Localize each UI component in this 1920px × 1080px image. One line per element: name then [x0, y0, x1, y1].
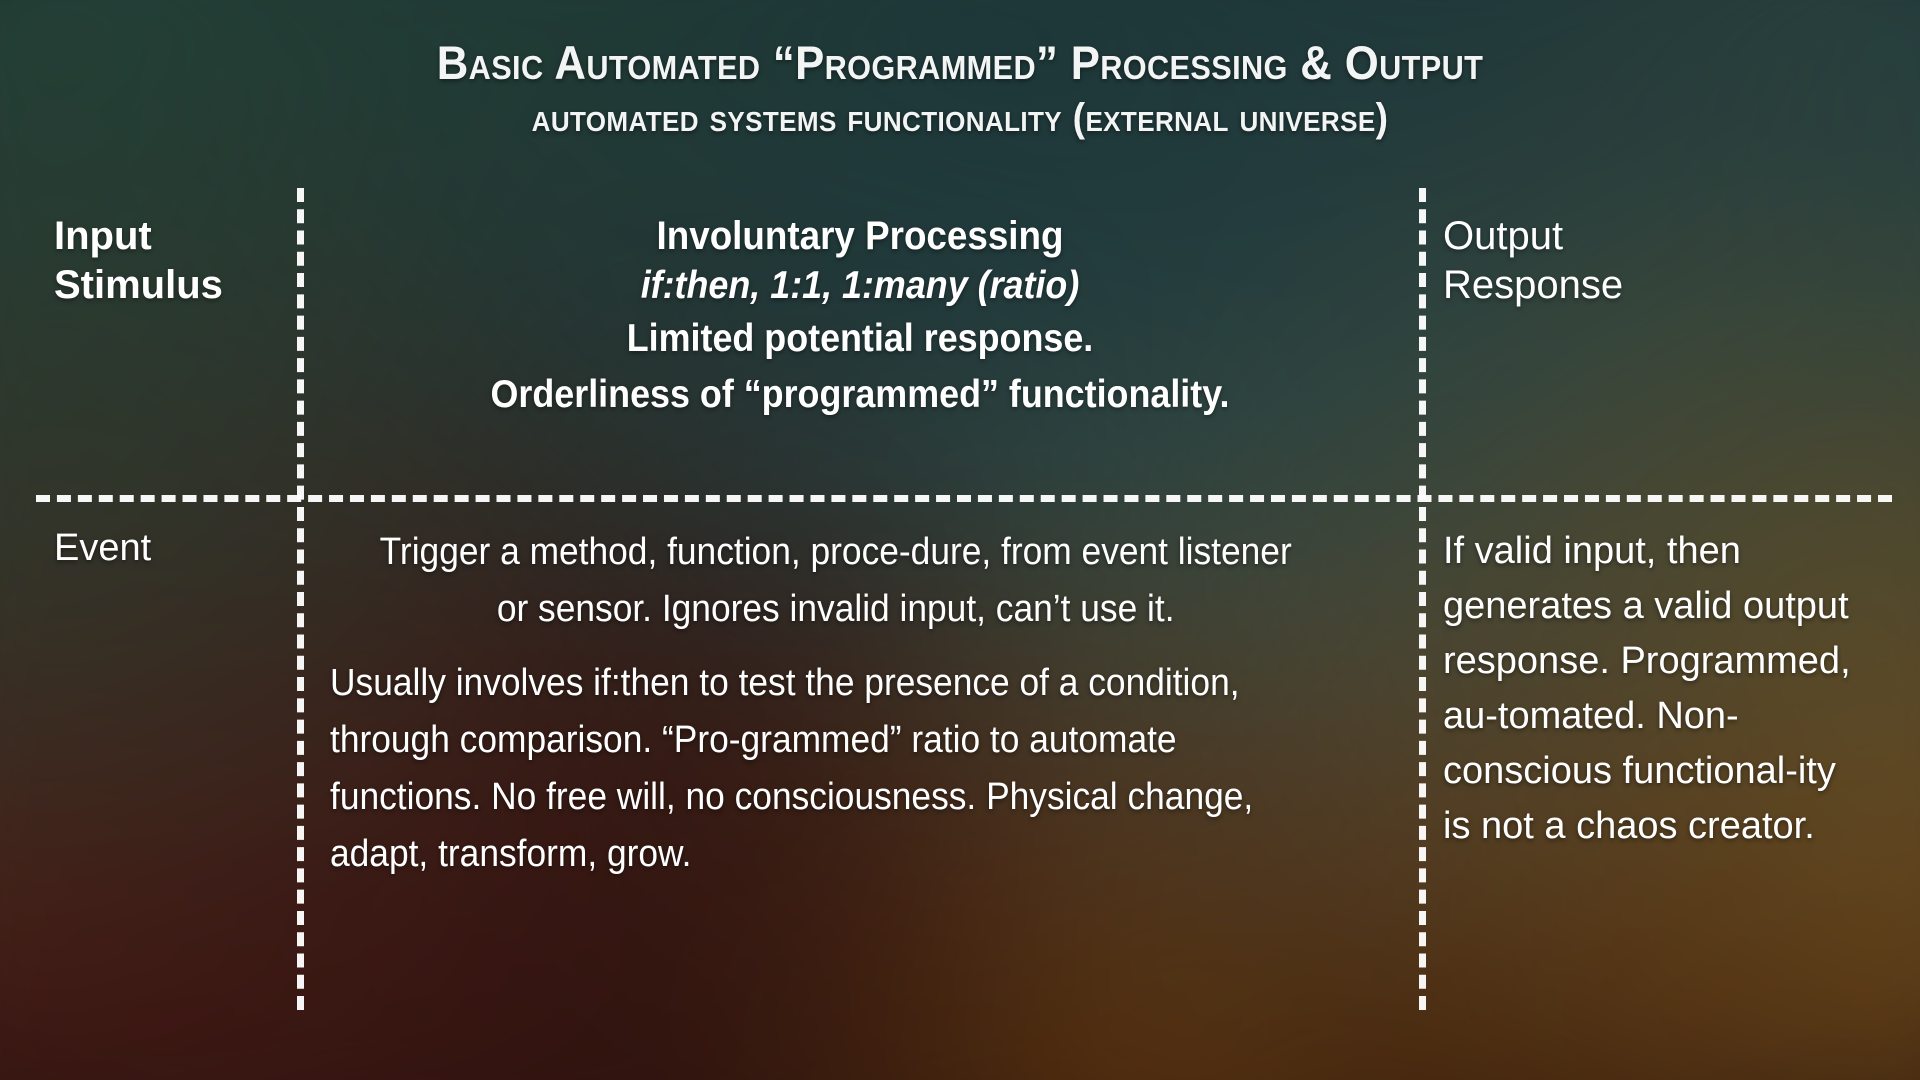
header-processing-line1: Involuntary Processing [363, 212, 1357, 261]
slide-canvas: Basic Automated “Programmed” Processing … [0, 0, 1920, 1080]
header-input-line1: Input [54, 212, 284, 261]
column-divider-left [297, 188, 304, 1010]
row-input-event: Event [54, 524, 284, 572]
header-output-line2: Response [1443, 261, 1863, 310]
row-processing-paragraph-2: Usually involves if:then to test the pre… [330, 655, 1325, 883]
header-input-line2: Stimulus [54, 261, 284, 310]
header-processing-line2: if:then, 1:1, 1:many (ratio) [363, 261, 1357, 311]
row-processing-paragraph-1: Trigger a method, function, proce-dure, … [368, 524, 1303, 638]
header-row-divider [36, 495, 1892, 502]
slide-title: Basic Automated “Programmed” Processing … [67, 34, 1853, 92]
header-output-line1: Output [1443, 212, 1863, 261]
column-divider-right [1419, 188, 1426, 1010]
header-processing-line4: Orderliness of “programmed” functionalit… [363, 367, 1357, 423]
row-processing-text: Trigger a method, function, proce-dure, … [330, 524, 1400, 883]
title-block: Basic Automated “Programmed” Processing … [0, 34, 1920, 144]
slide-content: Basic Automated “Programmed” Processing … [0, 0, 1920, 1080]
header-involuntary-processing: Involuntary Processing if:then, 1:1, 1:m… [320, 212, 1400, 423]
header-output-response: Output Response [1443, 212, 1863, 310]
header-input-stimulus: Input Stimulus [54, 212, 284, 310]
slide-subtitle: automated systems functionality (externa… [67, 92, 1853, 144]
row-output-text: If valid input, then generates a valid o… [1443, 524, 1873, 854]
header-processing-line3: Limited potential response. [363, 311, 1357, 367]
